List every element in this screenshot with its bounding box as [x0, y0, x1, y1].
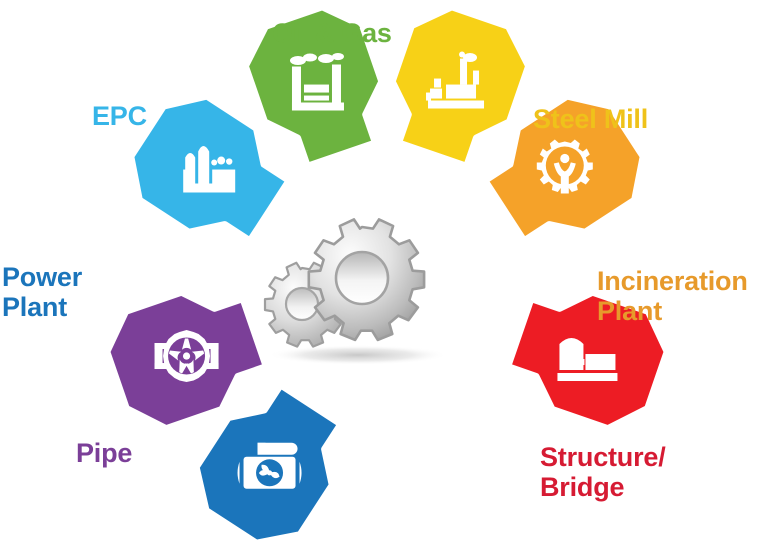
gear-shadow — [268, 345, 448, 365]
gears-icon — [265, 219, 448, 365]
label-line-2: Plant — [2, 292, 67, 322]
label-power-plant: PowerPlant — [2, 262, 82, 322]
label-line-2: Plant — [597, 296, 662, 326]
label-structure-bridge: Structure/Bridge — [540, 442, 666, 502]
label-line-1: Structure/ — [540, 442, 666, 472]
label-incineration-plant: IncinerationPlant — [597, 266, 748, 326]
label-oil-gas: Oil & Gas — [272, 18, 392, 48]
label-pipe: Pipe — [76, 438, 132, 468]
label-steel-mill: Steel Mill — [533, 104, 648, 134]
label-line-1: Power — [2, 262, 82, 292]
label-epc: EPC — [92, 101, 147, 131]
diagram-canvas: Oil & Gas Steel Mill IncinerationPlant S… — [0, 0, 774, 541]
label-line-1: Incineration — [597, 266, 748, 296]
label-line-2: Bridge — [540, 472, 624, 502]
